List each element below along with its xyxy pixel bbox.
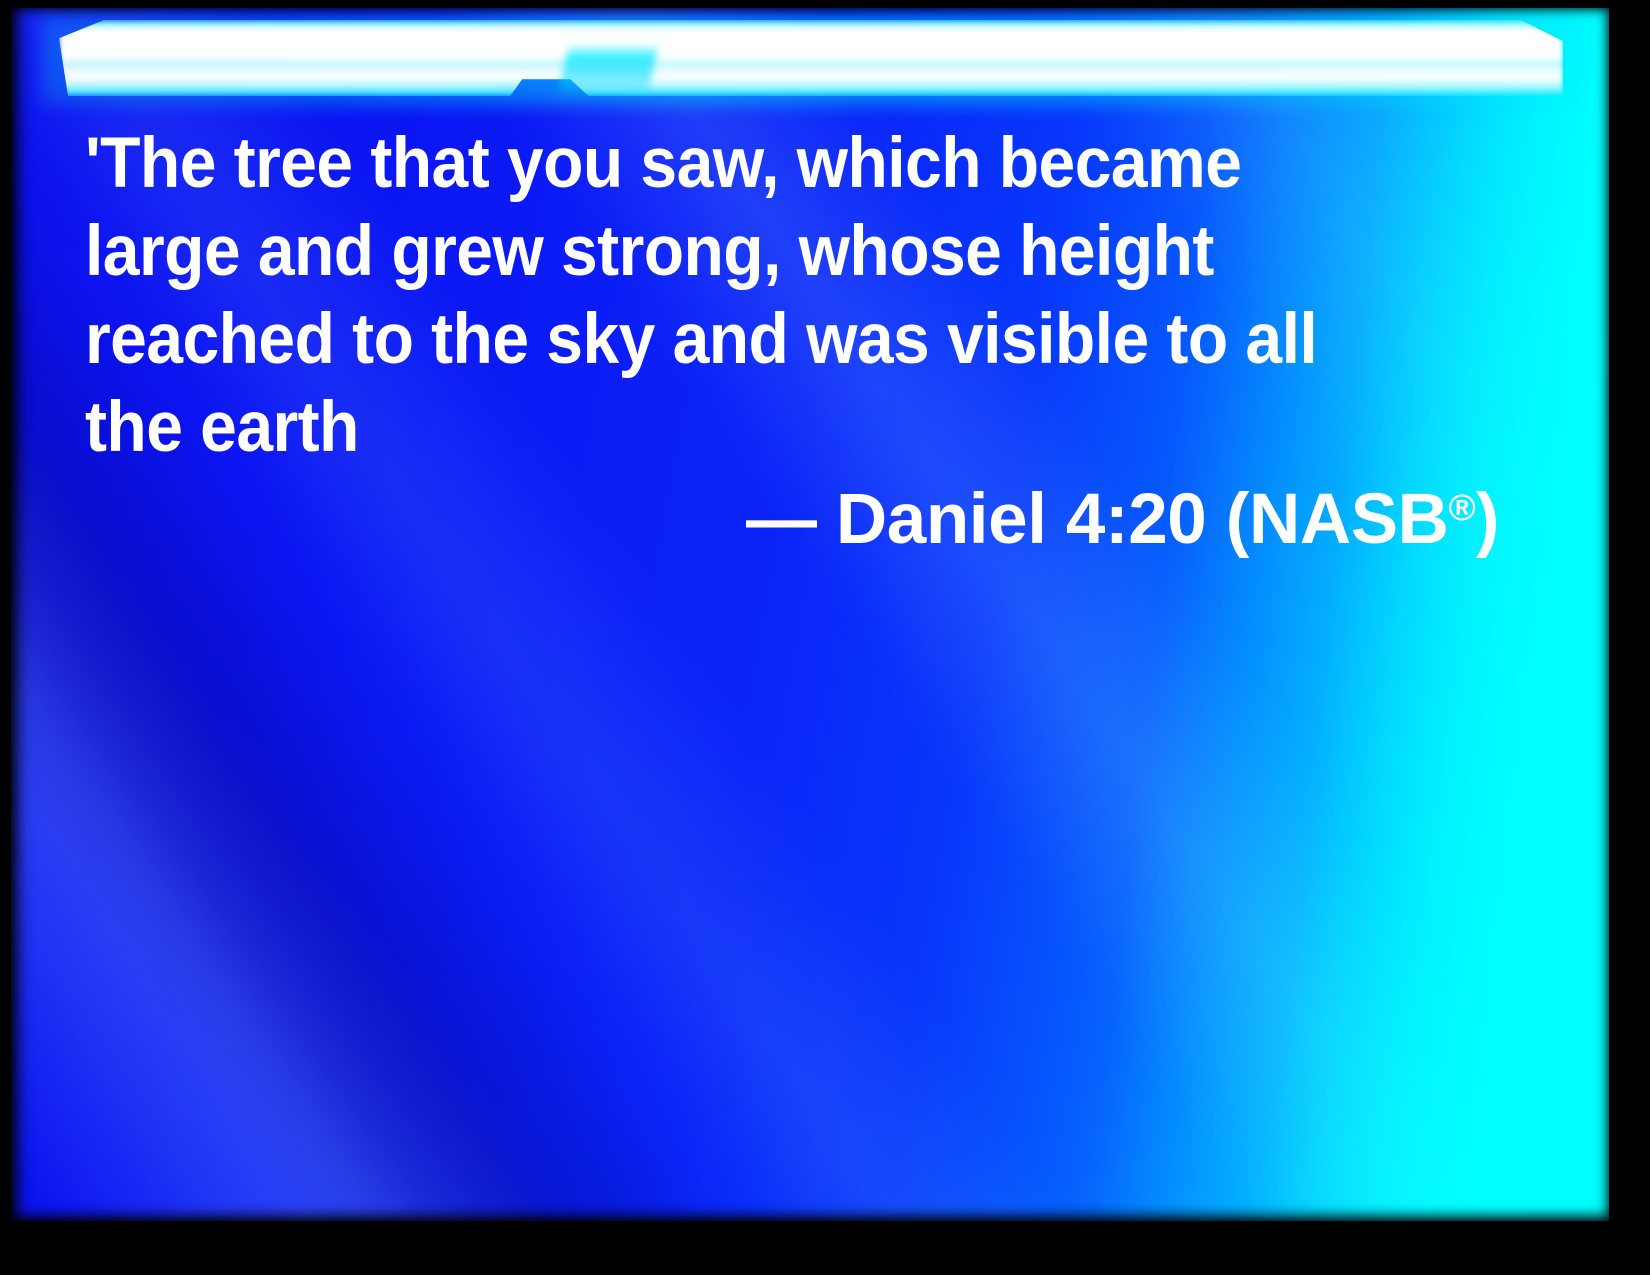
registered-trademark-icon: ® [1449,487,1476,528]
attribution-reference: 4:20 [1066,480,1207,559]
attribution-spacer [817,480,836,559]
scripture-slide: 'The tree that you saw, which became lar… [0,0,1650,1275]
attribution-book: Daniel [836,480,1047,559]
quote-line-2: large and grew strong, whose height [85,208,1406,296]
attribution-translation-close: ) [1476,480,1499,559]
attribution-em-dash: — [746,480,817,559]
attribution-spacer-3 [1206,480,1225,559]
scripture-attribution: — Daniel 4:20 (NASB®) [85,464,1499,564]
attribution-translation-open: (NASB [1226,480,1449,559]
quote-line-3: reached to the sky and was visible to al… [85,296,1406,384]
quote-line-1: 'The tree that you saw, which became [85,120,1406,208]
quote-text-block: 'The tree that you saw, which became lar… [85,120,1505,472]
header-glow-bar [59,20,1563,96]
quote-line-4: the earth [85,384,1406,472]
attribution-spacer-2 [1047,480,1066,559]
slide-artwork-area: 'The tree that you saw, which became lar… [11,8,1609,1221]
